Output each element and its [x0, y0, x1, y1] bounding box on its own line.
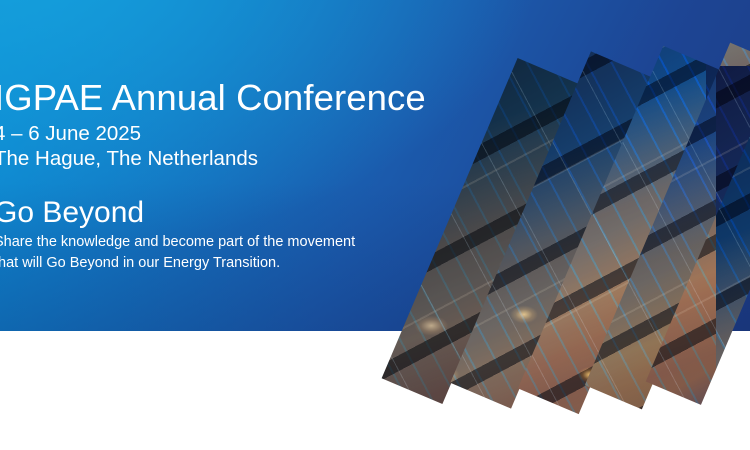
conference-tagline: Go Beyond	[0, 171, 464, 231]
banner-text-block: IGPAE Annual Conference 4 – 6 June 2025 …	[0, 76, 464, 273]
conference-blurb-line-2: that will Go Beyond in our Energy Transi…	[0, 252, 464, 273]
conference-banner: IGPAE Annual Conference 4 – 6 June 2025 …	[0, 0, 750, 450]
page-title: IGPAE Annual Conference	[0, 76, 464, 120]
page-white-background	[0, 331, 750, 450]
conference-location: The Hague, The Netherlands	[0, 146, 464, 171]
conference-dates: 4 – 6 June 2025	[0, 120, 464, 146]
conference-blurb-line-1: Share the knowledge and become part of t…	[0, 231, 464, 252]
